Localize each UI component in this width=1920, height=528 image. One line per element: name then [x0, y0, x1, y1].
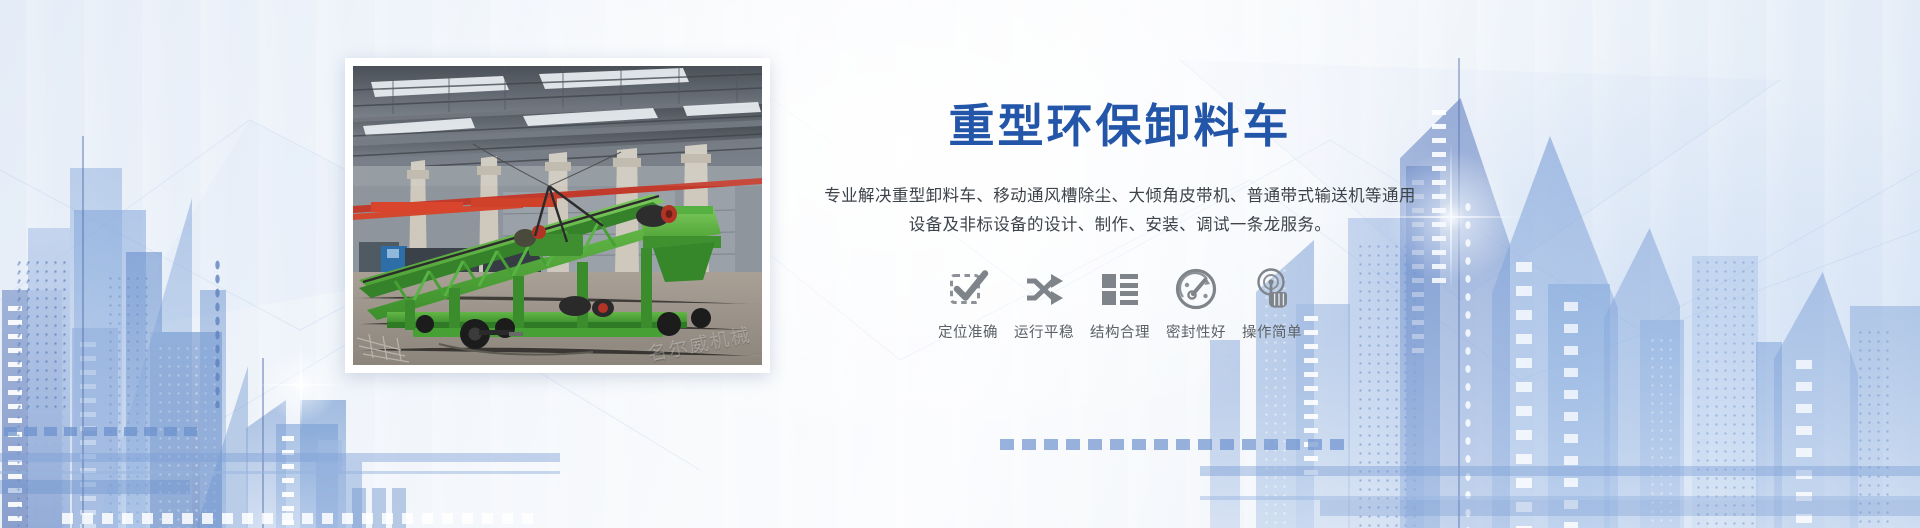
background-star-flare-small — [258, 342, 344, 428]
feature-label-4: 操作简单 — [1242, 321, 1302, 342]
product-photo-frame: 名尔威机械 — [345, 58, 770, 373]
feature-item-4[interactable]: 操作简单 — [1234, 266, 1310, 342]
background-dot-ribbon — [1000, 439, 1344, 450]
feature-label-0: 定位准确 — [938, 321, 998, 342]
factory-conveyor-illustration — [353, 66, 762, 365]
feature-item-1[interactable]: 运行平稳 — [1006, 266, 1082, 342]
feature-item-0[interactable]: 定位准确 — [930, 266, 1006, 342]
feature-label-1: 运行平稳 — [1014, 321, 1074, 342]
page-title: 重型环保卸料车 — [820, 100, 1420, 153]
checkbox-check-icon — [945, 266, 991, 312]
hero-banner: 名尔威机械 重型环保卸料车 专业解决重型卸料车、移动通风槽除尘、大倾角皮带机、普… — [0, 0, 1920, 528]
feature-label-3: 密封性好 — [1166, 321, 1226, 342]
shuffle-arrows-icon — [1021, 266, 1067, 312]
feature-item-3[interactable]: 密封性好 — [1158, 266, 1234, 342]
banner-content: 重型环保卸料车 专业解决重型卸料车、移动通风槽除尘、大倾角皮带机、普通带式输送机… — [820, 100, 1420, 342]
banner-description: 专业解决重型卸料车、移动通风槽除尘、大倾角皮带机、普通带式输送机等通用设备及非标… — [820, 181, 1420, 240]
feature-item-2[interactable]: 结构合理 — [1082, 266, 1158, 342]
feature-list: 定位准确 运行平稳 — [820, 266, 1420, 342]
list-layout-icon — [1097, 266, 1143, 312]
feature-label-2: 结构合理 — [1090, 321, 1150, 342]
gauge-meter-icon — [1173, 266, 1219, 312]
touch-tap-icon — [1249, 266, 1295, 312]
product-photo: 名尔威机械 — [353, 66, 762, 365]
